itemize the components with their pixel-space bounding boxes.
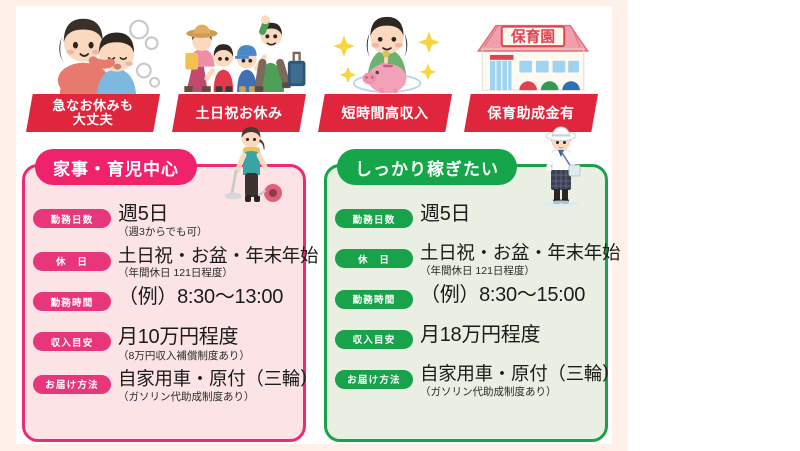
benefit-tag-0-line2: 大丈夫 — [73, 112, 114, 127]
plan-row: 収入目安 月18万円程度 — [335, 324, 599, 358]
benefit-tag-3-label: 保育助成金有 — [488, 106, 575, 121]
benefit-item-3: 保育園 保育助成金有 — [460, 8, 606, 140]
benefit-item-1: 土日祝お休み — [168, 8, 314, 140]
plan-row: 勤務日数 週5日 — [335, 203, 599, 237]
plan-row: お届け方法 自家用車・原付（三輪） （ガソリン代助成制度あり） — [335, 364, 599, 399]
row-value: 自家用車・原付（三輪） — [118, 369, 297, 390]
row-label-pill: お届け方法 — [335, 370, 413, 389]
plan-panel-housework-childcare: 家事・育児中心 — [22, 164, 306, 442]
row-note: （年間休日 121日程度） — [420, 265, 599, 278]
nursery-school-building-illustration: 保育園 — [460, 10, 606, 94]
benefit-tag-1-label: 土日祝お休み — [196, 106, 283, 121]
row-label-pill: 勤務時間 — [335, 290, 413, 309]
row-label-pill: 勤務日数 — [335, 209, 413, 228]
row-label-pill: 収入目安 — [33, 332, 111, 351]
plan-title-earn-well: しっかり稼ぎたい — [337, 149, 517, 185]
row-label-pill: 勤務日数 — [33, 209, 111, 228]
plan-panel-earn-well: しっかり稼ぎたい — [324, 164, 608, 442]
benefit-item-2: 短時間高収入 — [314, 8, 460, 140]
row-value: （例）8:30〜13:00 — [118, 286, 297, 308]
benefit-tag-0: 急なお休みも 大丈夫 — [26, 94, 160, 132]
mother-and-sick-child-illustration — [22, 10, 168, 94]
woman-delivery-staff-illustration — [531, 125, 591, 207]
nursery-sign-text: 保育園 — [510, 28, 555, 46]
benefits-banner: 急なお休みも 大丈夫 — [22, 8, 606, 140]
benefit-item-0: 急なお休みも 大丈夫 — [22, 8, 168, 140]
plan-panels: 家事・育児中心 — [22, 150, 608, 442]
plan-row: 勤務日数 週5日 （週3からでも可） — [33, 203, 297, 240]
woman-with-piggy-bank-illustration — [314, 10, 460, 94]
plan-row: 休 日 土日祝・お盆・年末年始 （年間休日 121日程度） — [33, 246, 297, 281]
plan-row: 休 日 土日祝・お盆・年末年始 （年間休日 121日程度） — [335, 243, 599, 278]
benefit-tag-2: 短時間高収入 — [318, 94, 452, 132]
row-label-pill: 休 日 — [33, 252, 111, 271]
row-value: 月18万円程度 — [420, 324, 599, 346]
plan-row: お届け方法 自家用車・原付（三輪） （ガソリン代助成制度あり） — [33, 369, 297, 404]
row-note: （ガソリン代助成制度あり） — [118, 391, 297, 404]
row-note: （週3からでも可） — [118, 226, 297, 239]
plan-row: 勤務時間 （例）8:30〜15:00 — [335, 284, 599, 318]
plan-title-housework-childcare: 家事・育児中心 — [35, 149, 197, 185]
row-value: 土日祝・お盆・年末年始 — [118, 246, 297, 267]
row-label-pill: 収入目安 — [335, 330, 413, 349]
row-label-pill: お届け方法 — [33, 375, 111, 394]
row-note: （ガソリン代助成制度あり） — [420, 386, 599, 399]
infographic-page: 急なお休みも 大丈夫 — [0, 0, 800, 451]
plan-row: 勤務時間 （例）8:30〜13:00 — [33, 286, 297, 320]
row-value: （例）8:30〜15:00 — [420, 284, 599, 306]
row-value: 自家用車・原付（三輪） — [420, 364, 599, 385]
plan-row: 収入目安 月10万円程度 （8万円収入補償制度あり） — [33, 326, 297, 363]
plan-rows-housework-childcare: 勤務日数 週5日 （週3からでも可） 休 日 土日祝・お盆・年末年始 （年間休日… — [33, 203, 297, 410]
family-travel-illustration — [168, 10, 314, 94]
benefit-tag-2-label: 短時間高収入 — [342, 106, 429, 121]
plan-rows-earn-well: 勤務日数 週5日 休 日 土日祝・お盆・年末年始 （年間休日 121日程度） 勤… — [335, 203, 599, 405]
row-label-pill: 休 日 — [335, 249, 413, 268]
row-note: （年間休日 121日程度） — [118, 267, 297, 280]
row-note: （8万円収入補償制度あり） — [118, 350, 297, 363]
woman-vacuuming-illustration — [225, 125, 285, 207]
row-label-pill: 勤務時間 — [33, 292, 111, 311]
row-value: 月10万円程度 — [118, 326, 297, 348]
row-value: 土日祝・お盆・年末年始 — [420, 243, 599, 264]
